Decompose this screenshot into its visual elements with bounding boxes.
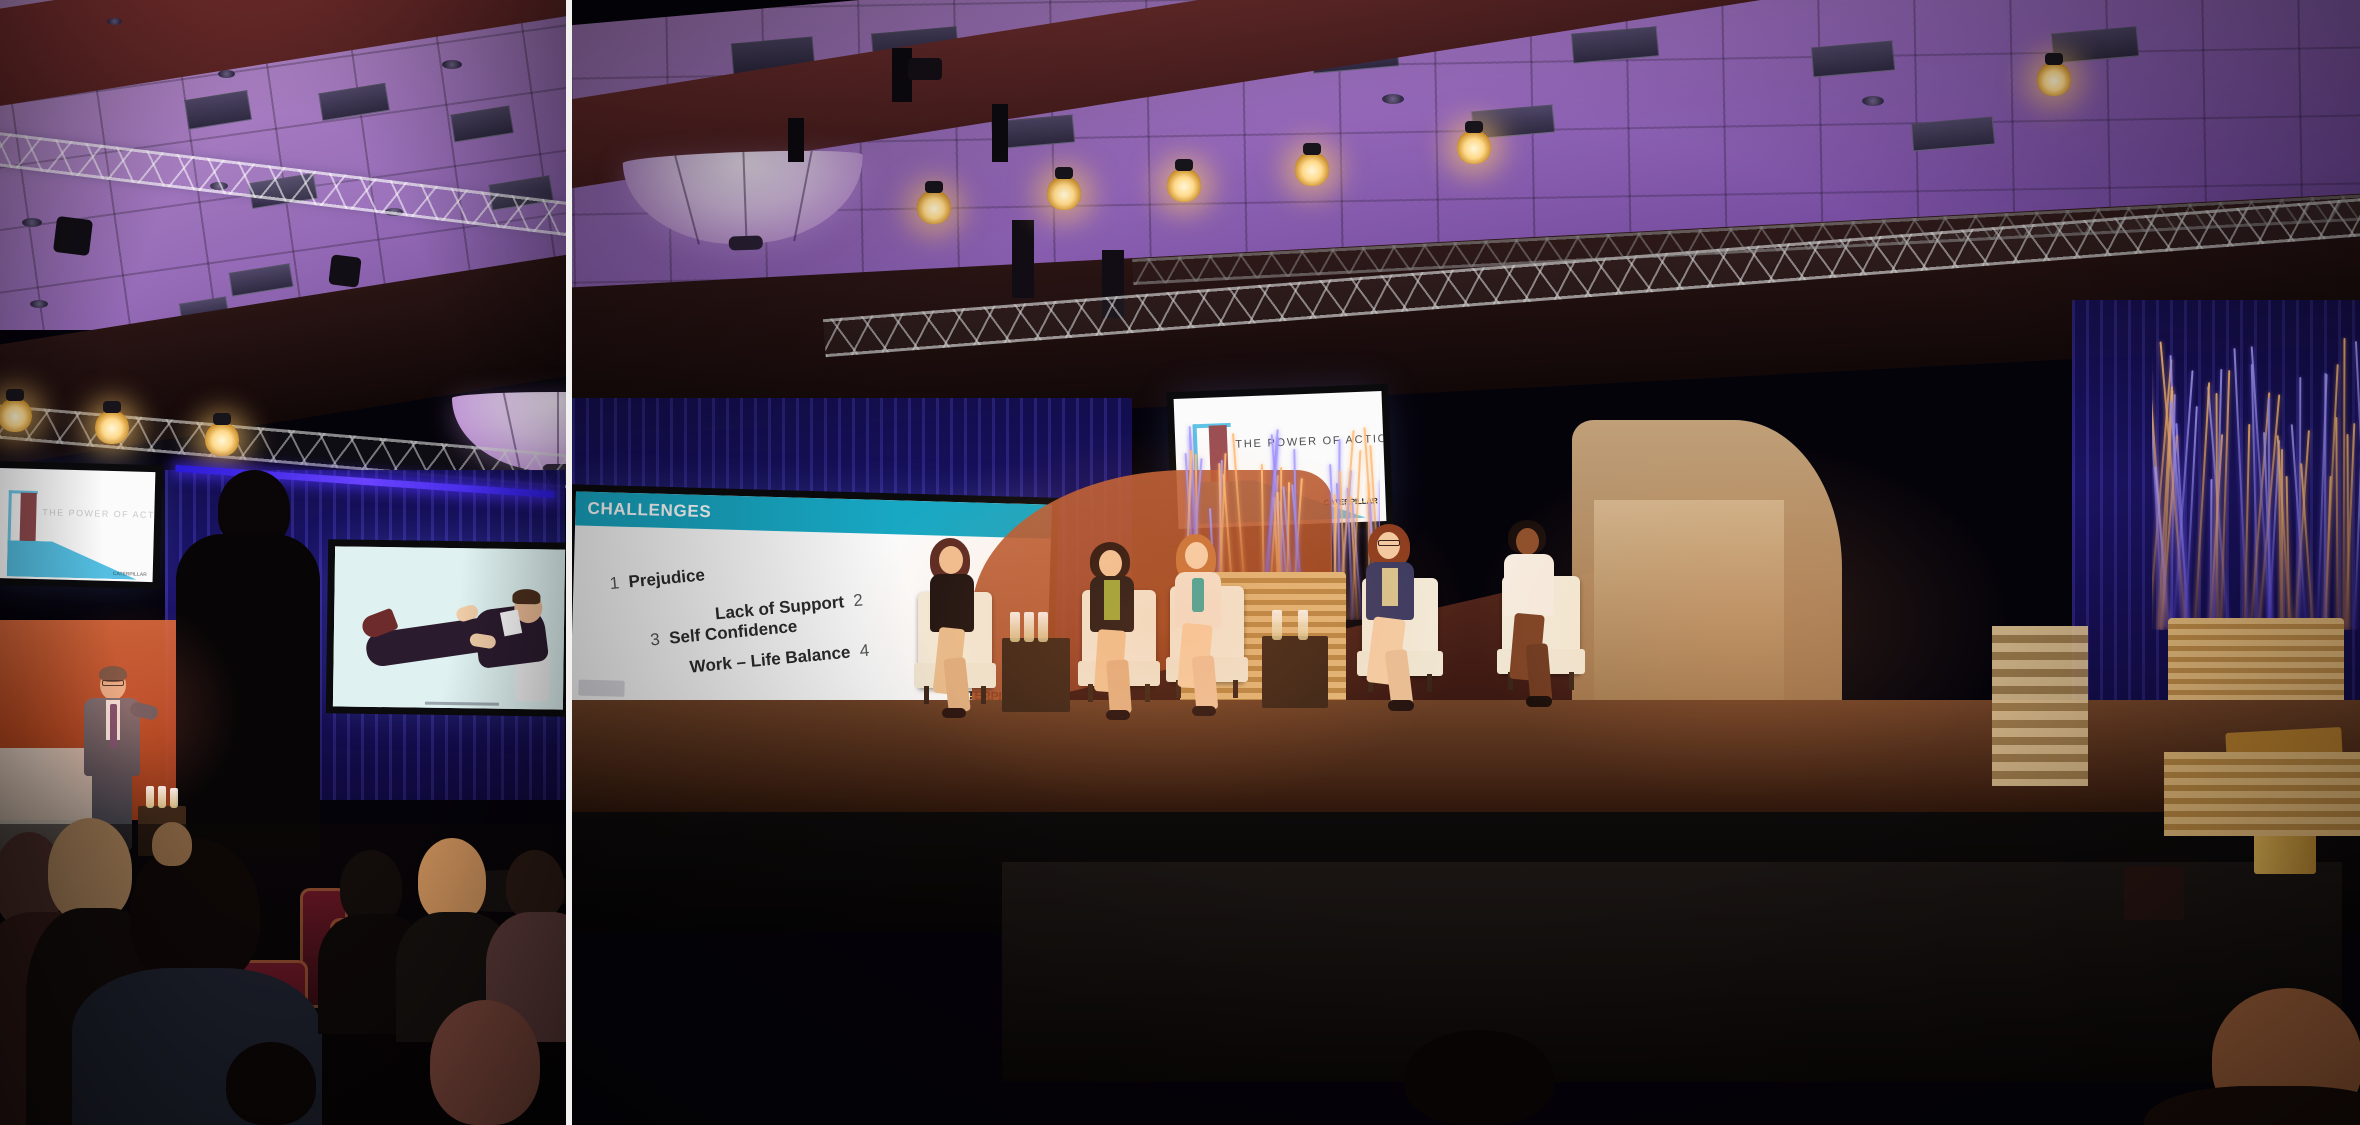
- water-bottle: [1272, 610, 1282, 640]
- left-panel-keynote-photo: THE POWER OF ACTION CATERPILLAR: [0, 0, 566, 1125]
- audience-head: [1404, 1030, 1554, 1125]
- spotlight-yoke: [1175, 159, 1193, 171]
- audience-head: [430, 1000, 540, 1125]
- recessed-light: [30, 300, 48, 308]
- hanging-fixture: [992, 104, 1008, 162]
- audience-head: [152, 822, 192, 866]
- recessed-light: [218, 70, 235, 78]
- panelist-torso: [1504, 554, 1554, 616]
- audience-head: [340, 850, 402, 924]
- speaker-tie: [110, 704, 117, 748]
- panelist-head: [1099, 550, 1122, 577]
- decor-branch: [2354, 452, 2360, 629]
- spotlight-yoke: [1465, 121, 1483, 133]
- stage-spotlight: [917, 190, 951, 224]
- chair-leg: [924, 686, 929, 704]
- decor-branch: [2300, 463, 2314, 630]
- recessed-light: [107, 18, 122, 25]
- screen-content: THE POWER OF ACTION CATERPILLAR: [0, 468, 155, 582]
- hanging-fixture: [788, 118, 804, 162]
- left-projection-screen: THE POWER OF ACTION CATERPILLAR: [0, 468, 155, 582]
- panelist-blouse: [1382, 568, 1398, 606]
- audience-head: [418, 838, 486, 922]
- bullet-number: 4: [859, 641, 870, 661]
- panelist-legs: [1192, 655, 1219, 711]
- panelist-head: [1516, 528, 1539, 555]
- stage-floor: [572, 700, 2360, 820]
- photo-caption: [425, 702, 499, 706]
- panelist-shoe: [942, 708, 966, 718]
- bullet-item-1: 1 Prejudice: [609, 565, 706, 594]
- chair-leg: [1145, 684, 1150, 702]
- recessed-light: [442, 60, 462, 69]
- bullet-item-4: Work – Life Balance 4: [689, 641, 870, 678]
- stage-spotlight: [1047, 176, 1081, 210]
- screen-content: [333, 546, 565, 709]
- stage-spotlight: [205, 422, 239, 456]
- audience-head: [48, 818, 132, 922]
- spotlight-yoke: [213, 413, 231, 425]
- stool: [2124, 866, 2184, 920]
- side-table-2: [1262, 636, 1328, 708]
- decor-branch: [2335, 417, 2338, 630]
- panelist-shoe: [1388, 700, 1414, 711]
- right-projection-screen: [333, 546, 565, 709]
- caterpillar-logo: CATERPILLAR: [113, 571, 147, 578]
- water-bottle: [1038, 612, 1048, 642]
- standing-attendee-body: [176, 534, 320, 864]
- decor-branch: [2298, 377, 2301, 630]
- bullet-text: Prejudice: [628, 565, 706, 591]
- chair-leg: [1427, 674, 1432, 692]
- dome-rib: [675, 155, 701, 244]
- recessed-light: [1382, 94, 1404, 104]
- bullet-number: 1: [609, 573, 620, 593]
- panelist-shoe: [1526, 696, 1552, 707]
- collage-divider: [566, 0, 572, 1125]
- water-bottle: [158, 786, 166, 808]
- water-bottle: [1010, 612, 1020, 642]
- panelist-head: [1185, 542, 1208, 569]
- panelist-legs: [1106, 659, 1132, 714]
- audience-head: [226, 1042, 316, 1125]
- dome-rib: [793, 151, 813, 242]
- spotlight-yoke: [103, 401, 121, 413]
- panelist-glasses: [1378, 540, 1400, 546]
- speaker-glasses: [102, 680, 124, 686]
- dome-hub: [729, 235, 763, 250]
- recessed-light: [1862, 96, 1884, 106]
- water-bottle: [170, 788, 178, 808]
- panelist-top: [1104, 580, 1120, 620]
- branch-decor-right: [2152, 330, 2360, 630]
- spotlight-yoke: [6, 389, 24, 401]
- stage-spotlight: [1167, 168, 1201, 202]
- spotlight-yoke: [1303, 143, 1321, 155]
- panelist-torso: [930, 574, 974, 632]
- hanging-fixture: [1012, 220, 1034, 298]
- bullet-number: 2: [853, 590, 864, 610]
- panelist-scarf: [1192, 578, 1204, 612]
- water-bottle: [1024, 612, 1034, 642]
- side-table-1: [1002, 638, 1070, 712]
- hanging-fixture: [908, 58, 942, 80]
- stage-spotlight: [2037, 62, 2071, 96]
- truss-fixture: [53, 216, 93, 256]
- photo-collage: THE POWER OF ACTION CATERPILLAR: [0, 0, 2360, 1125]
- stage-spotlight: [95, 410, 129, 444]
- stage-panel-board: [1594, 500, 1784, 700]
- panelist-shoe: [1192, 706, 1216, 716]
- secondary-logo: [578, 680, 624, 697]
- bullet-number: 3: [649, 630, 660, 650]
- water-bottle: [1298, 610, 1308, 640]
- recessed-light: [22, 218, 42, 227]
- truss-fixture: [328, 254, 361, 287]
- chair-leg: [1233, 680, 1238, 698]
- chair-leg: [1088, 684, 1093, 702]
- photo-person-hair: [512, 589, 540, 604]
- door-graphic: [20, 493, 37, 543]
- chair-leg: [1569, 672, 1574, 690]
- stacked-chairs: [1992, 626, 2088, 786]
- panelist-shoe: [1106, 710, 1130, 720]
- right-panel-discussion-photo: CHALLENGES 1 Prejudice Lack of Support 2…: [572, 0, 2360, 1125]
- water-bottle: [146, 786, 154, 808]
- chair-leg: [981, 686, 986, 704]
- stage-spotlight: [0, 398, 32, 432]
- spotlight-yoke: [925, 181, 943, 193]
- spotlight-yoke: [2045, 53, 2063, 65]
- lectern-backdrop: [2164, 752, 2360, 836]
- audience-head: [130, 838, 260, 988]
- audience-shoulders: [2144, 1086, 2360, 1125]
- audience-head: [506, 850, 564, 920]
- slide-title-text: THE POWER OF ACTION: [42, 507, 155, 520]
- stage-spotlight: [1295, 152, 1329, 186]
- panelist-head: [939, 546, 963, 574]
- bullet-text: Work – Life Balance: [689, 642, 851, 676]
- stage-spotlight: [1457, 130, 1491, 164]
- dome-rib: [742, 152, 747, 244]
- spotlight-yoke: [1055, 167, 1073, 179]
- decor-branch: [2343, 338, 2346, 630]
